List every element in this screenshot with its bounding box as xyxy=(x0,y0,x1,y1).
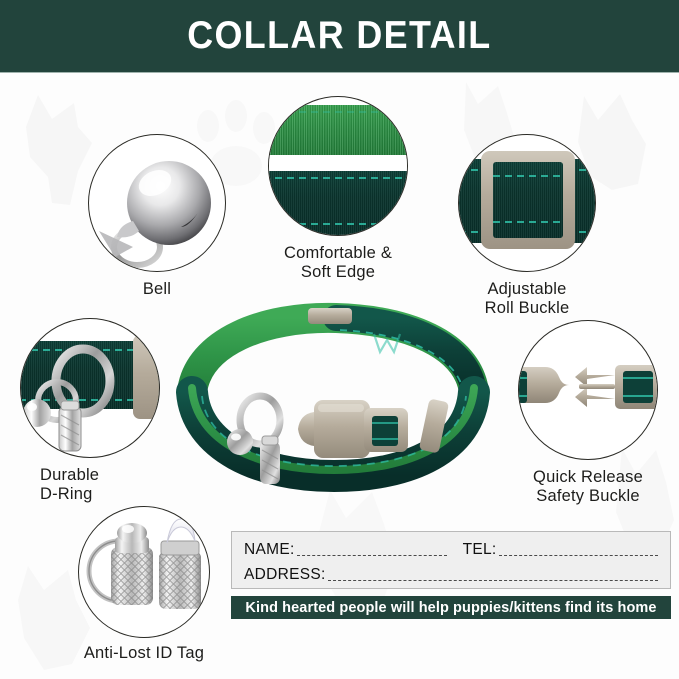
feature-id-tag-caption: Anti-Lost ID Tag xyxy=(56,644,232,663)
roll-buckle-inner-stitch-bottom xyxy=(493,221,563,223)
feature-bell-image xyxy=(88,134,226,272)
header-bar: COLLAR DETAIL xyxy=(0,0,679,73)
white-gap xyxy=(268,155,408,171)
dark-band-stitch-bottom xyxy=(268,223,408,225)
bright-band-stitch xyxy=(268,111,408,113)
dark-webbing-band xyxy=(268,171,408,236)
feature-soft-edge-image xyxy=(268,96,408,236)
infographic-canvas: COLLAR DETAIL xyxy=(0,0,679,679)
tel-label: TEL: xyxy=(463,541,497,559)
name-label: NAME: xyxy=(244,541,295,559)
id-tag-capsules-illustration xyxy=(79,507,210,638)
feature-quick-release-image xyxy=(518,320,658,460)
product-collar-image xyxy=(168,300,498,510)
d-ring-keeper xyxy=(133,335,160,419)
tel-input-line[interactable] xyxy=(499,554,658,556)
bell-illustration xyxy=(89,135,225,271)
feature-soft-edge: Comfortable & Soft Edge xyxy=(268,96,408,236)
feature-roll-buckle-image xyxy=(458,134,596,272)
dark-band-stitch-top xyxy=(268,177,408,179)
banner-text: Kind hearted people will help puppies/ki… xyxy=(245,600,656,616)
collar-illustration xyxy=(168,300,498,510)
feature-d-ring-image xyxy=(20,318,160,458)
feature-d-ring-caption: Durable D-Ring xyxy=(16,466,166,504)
quick-release-buckle-illustration xyxy=(519,321,658,460)
feature-soft-edge-caption: Comfortable & Soft Edge xyxy=(246,244,430,282)
id-card-row-name[interactable]: NAME: TEL: xyxy=(244,541,658,559)
name-input-line[interactable] xyxy=(297,554,447,556)
id-card-row-address[interactable]: ADDRESS: xyxy=(244,566,658,584)
feature-d-ring: Durable D-Ring xyxy=(20,318,160,458)
feature-id-tag: Anti-Lost ID Tag xyxy=(78,506,210,638)
page-title: COLLAR DETAIL xyxy=(187,14,491,58)
address-label: ADDRESS: xyxy=(244,566,326,584)
feature-roll-buckle: Adjustable Roll Buckle xyxy=(458,134,596,272)
address-input-line[interactable] xyxy=(328,579,658,581)
feature-bell: Bell xyxy=(88,134,226,272)
roll-buckle-inner-webbing xyxy=(493,162,563,238)
feature-bell-caption: Bell xyxy=(78,280,236,299)
collar-center-buckle xyxy=(298,400,408,458)
id-card-banner: Kind hearted people will help puppies/ki… xyxy=(231,596,671,619)
feature-quick-release: Quick Release Safety Buckle xyxy=(518,320,658,460)
feature-quick-release-caption: Quick Release Safety Buckle xyxy=(506,468,670,506)
id-card: NAME: TEL: ADDRESS: xyxy=(231,531,671,589)
feature-id-tag-image xyxy=(78,506,210,638)
roll-buckle-inner-stitch-top xyxy=(493,175,563,177)
